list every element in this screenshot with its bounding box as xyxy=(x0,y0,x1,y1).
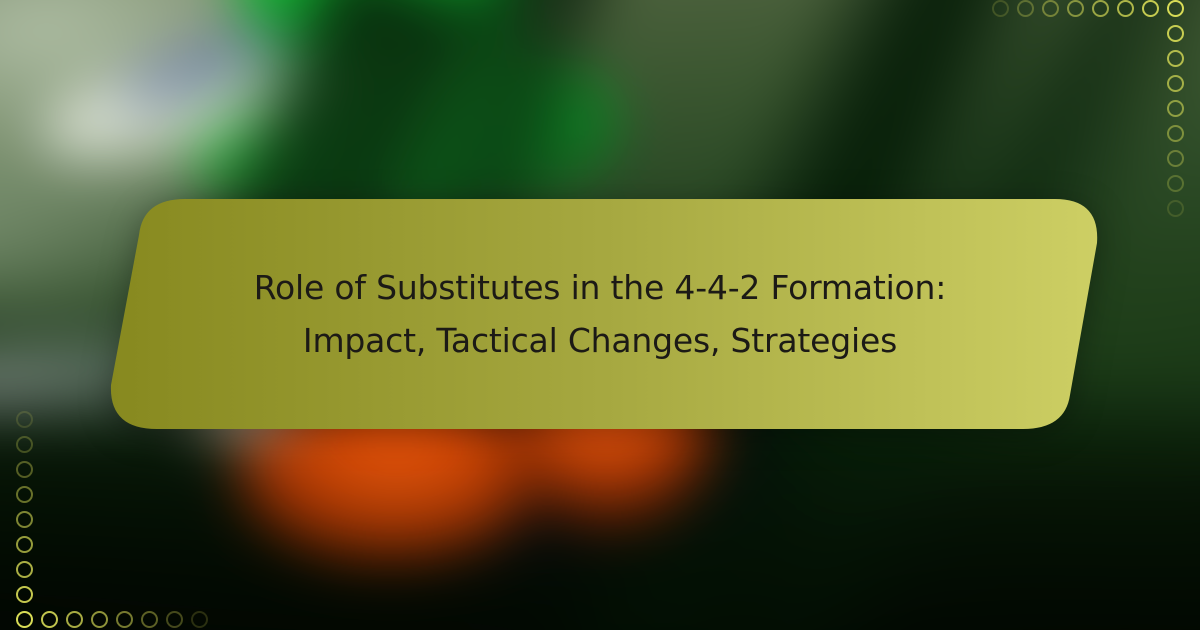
decoration-ring xyxy=(16,486,33,503)
decoration-ring xyxy=(1117,0,1134,17)
decoration-ring xyxy=(16,586,33,603)
decoration-ring xyxy=(1017,0,1034,17)
decoration-ring xyxy=(141,611,158,628)
decoration-ring xyxy=(1142,0,1159,17)
decoration-ring xyxy=(1167,75,1184,92)
decoration-ring xyxy=(41,611,58,628)
decoration-ring xyxy=(16,561,33,578)
decoration-ring xyxy=(1167,175,1184,192)
decoration-ring xyxy=(1067,0,1084,17)
decoration-ring xyxy=(992,0,1009,17)
decoration-ring xyxy=(1167,150,1184,167)
decoration-ring xyxy=(16,436,33,453)
decoration-ring xyxy=(1167,25,1184,42)
decoration-ring xyxy=(66,611,83,628)
decoration-rings-bottom-left xyxy=(0,400,220,630)
decoration-ring xyxy=(1042,0,1059,17)
decoration-ring xyxy=(191,611,208,628)
decoration-ring xyxy=(1167,100,1184,117)
decoration-ring xyxy=(116,611,133,628)
decoration-ring xyxy=(16,536,33,553)
title-line-2: Impact, Tactical Changes, Strategies xyxy=(303,320,897,361)
decoration-ring xyxy=(16,511,33,528)
decoration-ring xyxy=(1167,200,1184,217)
decoration-rings-top-right xyxy=(980,0,1200,230)
decoration-ring xyxy=(1167,125,1184,142)
decoration-ring xyxy=(1092,0,1109,17)
decoration-ring xyxy=(16,411,33,428)
title-block: Role of Substitutes in the 4-4-2 Formati… xyxy=(95,199,1105,429)
decoration-ring xyxy=(1167,0,1184,17)
decoration-ring xyxy=(91,611,108,628)
share-card-canvas: Role of Substitutes in the 4-4-2 Formati… xyxy=(0,0,1200,630)
decoration-ring xyxy=(16,461,33,478)
decoration-ring xyxy=(166,611,183,628)
title-line-1: Role of Substitutes in the 4-4-2 Formati… xyxy=(254,267,946,308)
decoration-ring xyxy=(16,611,33,628)
decoration-ring xyxy=(1167,50,1184,67)
